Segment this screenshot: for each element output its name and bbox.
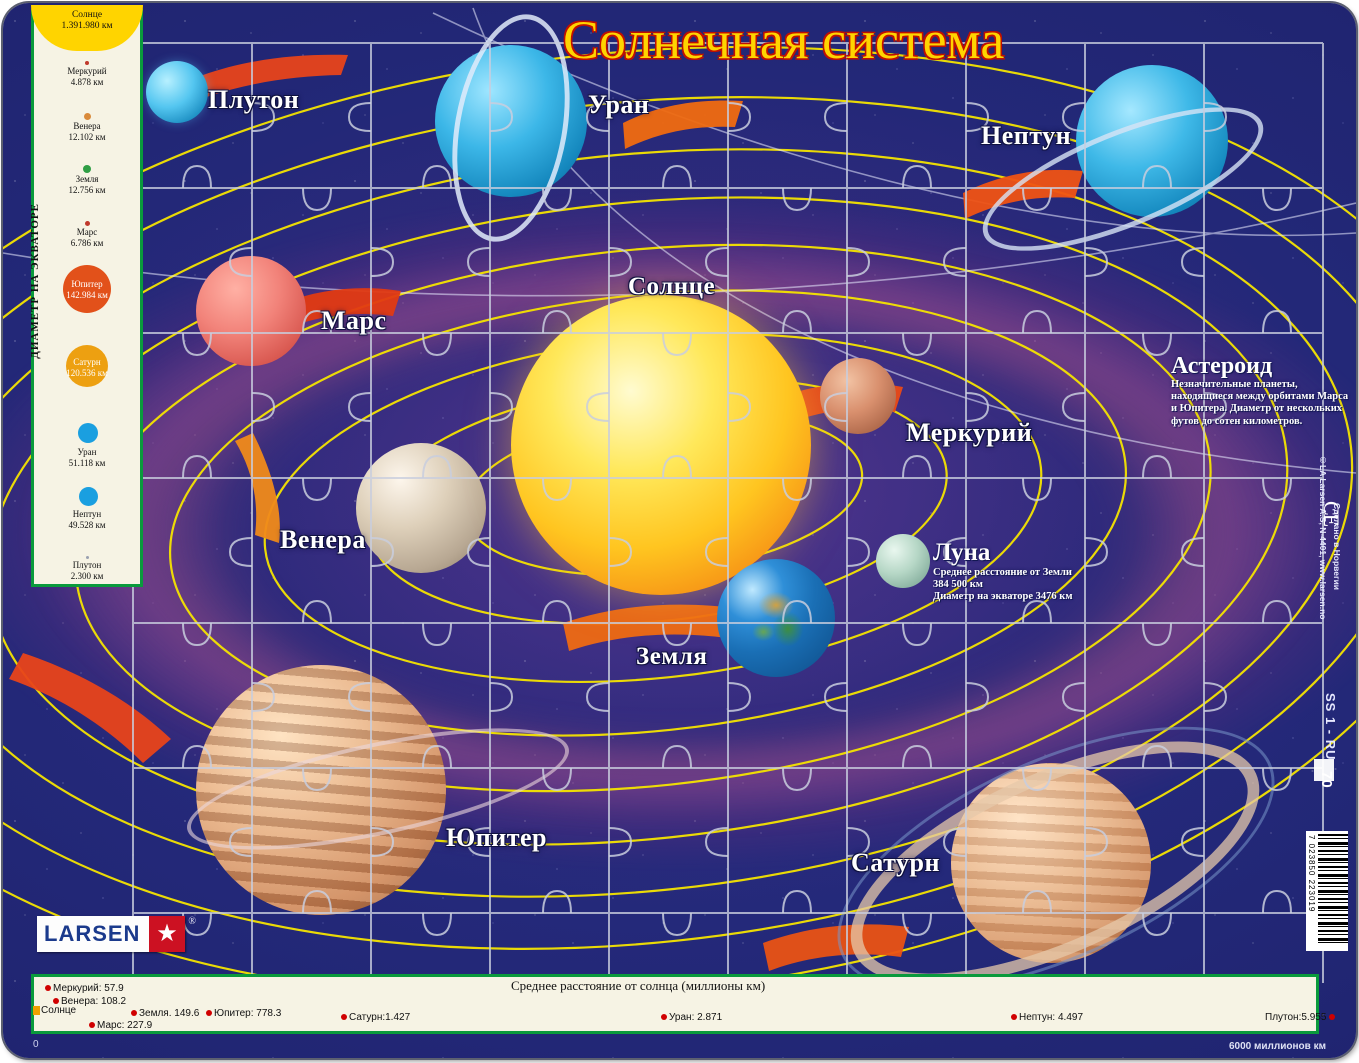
- moon-graphic: [876, 534, 930, 588]
- uranus-diameter-blob: [78, 423, 98, 443]
- mercury-dot-icon: [85, 61, 89, 65]
- distance-sun-label: Солнце: [41, 1005, 76, 1016]
- pluto-dot-icon: [86, 556, 89, 559]
- diameter-item-venus: Венера 12.102 км: [31, 113, 143, 142]
- diameter-item-pluto: Плутон 2.300 км: [31, 556, 143, 581]
- larsen-logo: LARSEN ★ ®: [37, 916, 185, 952]
- planet-venus-graphic: [356, 443, 486, 573]
- distance-name: Сатурн: [349, 1012, 382, 1023]
- diameter-name: Венера: [31, 121, 143, 132]
- moon-distance-value: 384 500 км: [933, 579, 1123, 591]
- label-uranus: Уран: [588, 90, 649, 120]
- asteroid-info-block: Астероид Незначительные планеты, находящ…: [1171, 353, 1356, 428]
- puzzle-tray: Солнечная система Плутон Уран Нептун Мар…: [3, 3, 1356, 1058]
- distance-name: Юпитер: [214, 1008, 251, 1019]
- diameter-item-neptune: Нептун 49.528 км: [31, 509, 143, 530]
- label-mars: Марс: [321, 306, 387, 336]
- distance-sun-marker: Солнце: [33, 1005, 76, 1016]
- label-pluto: Плутон: [208, 85, 299, 115]
- diameter-item-jupiter: Юпитер 142.984 км: [31, 279, 143, 300]
- sun-diameter-value: 1.391.980 км: [61, 21, 112, 31]
- distance-value: 778.3: [256, 1008, 281, 1019]
- planet-pluto-graphic: [146, 61, 208, 123]
- sun-square-icon: [33, 1006, 40, 1015]
- moon-distance-line: Среднее расстояние от Земли: [933, 567, 1123, 579]
- barcode: 7 023850 223019: [1306, 831, 1348, 951]
- diameter-item-saturn: Сатурн 120.536 км: [31, 357, 143, 378]
- copyright-text: ©LA Larsen A.S, N-4401, www.larsen.no: [1318, 455, 1328, 619]
- piece-count-label: 70: [1318, 771, 1335, 788]
- diameter-value: 4.878 км: [31, 77, 143, 88]
- distance-value: 2.871: [697, 1012, 722, 1023]
- distance-value: 108.2: [101, 996, 126, 1007]
- distance-name: Марс: [97, 1020, 122, 1031]
- distance-item-neptune: Нептун: 4.497: [1011, 1012, 1083, 1023]
- bullet-icon: [341, 1014, 347, 1020]
- brand-name: LARSEN: [44, 921, 149, 947]
- distance-name: Меркурий: [53, 983, 99, 994]
- distance-value: 4.497: [1058, 1012, 1083, 1023]
- piece-count-badge: 70: [1306, 755, 1346, 801]
- earth-dot-icon: [83, 165, 91, 173]
- diameter-name: Нептун: [31, 509, 143, 520]
- distance-value: 227.9: [127, 1020, 152, 1031]
- distance-item-jupiter: Юпитер: 778.3: [206, 1008, 281, 1019]
- label-jupiter: Юпитер: [446, 823, 547, 853]
- diameter-value: 49.528 км: [31, 520, 143, 531]
- distance-name: Земля: [139, 1008, 169, 1019]
- barcode-number: 7 023850 223019: [1307, 835, 1316, 912]
- diameter-value: 6.786 км: [31, 238, 143, 249]
- bullet-icon: [53, 998, 59, 1004]
- diameter-value: 12.756 км: [31, 185, 143, 196]
- label-moon: Луна: [933, 539, 1123, 567]
- planet-mars-graphic: [196, 256, 306, 366]
- distance-panel-title: Среднее расстояние от солнца (миллионы к…: [511, 978, 765, 994]
- distance-name: Уран: [669, 1012, 692, 1023]
- label-mercury: Меркурий: [906, 418, 1032, 448]
- distance-item-saturn: Сатурн:1.427: [341, 1012, 410, 1023]
- puzzle-screenshot: Солнечная система Плутон Уран Нептун Мар…: [0, 0, 1359, 1063]
- diameter-name: Плутон: [31, 560, 143, 571]
- sun-diameter-name: Солнце: [72, 10, 102, 20]
- distance-name: Плутон: [1265, 1012, 1299, 1023]
- distance-item-mars: Земля. 149.6: [131, 1008, 199, 1019]
- diameter-value: 51.118 км: [31, 458, 143, 469]
- scale-max-label: 6000 миллионов км: [1229, 1041, 1326, 1052]
- diameter-value: 142.984 км: [31, 290, 143, 301]
- neptune-diameter-blob: [79, 487, 98, 506]
- distance-value: 57.9: [104, 983, 123, 994]
- sun-graphic: [511, 295, 811, 595]
- diameter-item-earth: Земля 12.756 км: [31, 165, 143, 195]
- moon-info-block: Луна Среднее расстояние от Земли 384 500…: [933, 539, 1123, 603]
- bullet-icon: [206, 1010, 212, 1016]
- registered-mark: ®: [188, 916, 196, 927]
- label-neptune: Нептун: [981, 121, 1071, 151]
- star-icon: ★: [156, 922, 178, 946]
- diameter-name: Марс: [31, 227, 143, 238]
- distance-value: 5.955: [1301, 1012, 1326, 1023]
- bullet-icon: [89, 1022, 95, 1028]
- diameter-item-uranus: Уран 51.118 км: [31, 447, 143, 468]
- label-saturn: Сатурн: [851, 848, 940, 878]
- barcode-bars: [1318, 834, 1348, 946]
- diameter-value: 2.300 км: [31, 571, 143, 582]
- diameter-item-mercury: Меркурий 4.878 км: [31, 61, 143, 87]
- label-earth: Земля: [636, 643, 707, 671]
- distance-item-mercury: Меркурий: 57.9: [45, 983, 124, 994]
- venus-dot-icon: [84, 113, 91, 120]
- mars-dot-icon: [85, 221, 90, 226]
- bullet-icon: [661, 1014, 667, 1020]
- bullet-icon: [131, 1010, 137, 1016]
- diameter-item-mars: Марс 6.786 км: [31, 221, 143, 248]
- star-badge: ★: [149, 916, 185, 952]
- label-asteroid: Астероид: [1171, 353, 1356, 379]
- diameter-name: Юпитер: [31, 279, 143, 290]
- distance-value: 149.6: [174, 1008, 199, 1019]
- distance-item-uranus: Уран: 2.871: [661, 1012, 722, 1023]
- label-venus: Венера: [280, 525, 366, 555]
- asteroid-description: Незначительные планеты, находящиеся межд…: [1171, 379, 1356, 428]
- diameter-name: Меркурий: [31, 66, 143, 77]
- label-sun: Солнце: [628, 273, 715, 301]
- sku-text: SS 1 - RU: [1323, 693, 1338, 761]
- earth-landmass: [745, 583, 819, 657]
- ce-mark-icon: CE: [1318, 501, 1344, 525]
- bullet-icon: [1011, 1014, 1017, 1020]
- distance-item-pluto: Плутон:5.955: [1265, 1012, 1335, 1023]
- diameter-name: Земля: [31, 174, 143, 185]
- bullet-icon: [1329, 1014, 1335, 1020]
- bullet-icon: [45, 985, 51, 991]
- diameter-value: 120.536 км: [31, 368, 143, 379]
- moon-diameter-line: Диаметр на экваторе 3476 км: [933, 591, 1123, 603]
- distance-name: Нептун: [1019, 1012, 1052, 1023]
- distance-item-earth: Марс: 227.9: [89, 1020, 152, 1031]
- diameter-name: Уран: [31, 447, 143, 458]
- scale-min-label: 0: [33, 1039, 39, 1050]
- diameter-value: 12.102 км: [31, 132, 143, 143]
- diameter-name: Сатурн: [31, 357, 143, 368]
- distance-value: 1.427: [385, 1012, 410, 1023]
- page-title: Солнечная система: [563, 9, 1004, 71]
- planet-mercury-graphic: [820, 358, 896, 434]
